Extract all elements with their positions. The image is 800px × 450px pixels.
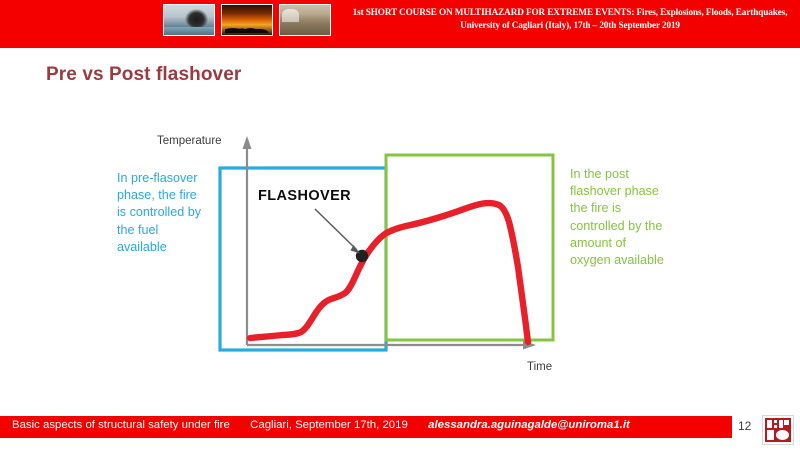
header-title: 1st SHORT COURSE ON MULTIHAZARD FOR EXTR…	[340, 6, 800, 32]
post-flashover-annotation: In the post flashover phase the fire is …	[570, 166, 666, 269]
flashover-marker-icon	[356, 250, 368, 262]
x-axis-label: Time	[527, 361, 552, 373]
y-axis-label: Temperature	[157, 135, 222, 147]
logo-mark-icon	[765, 418, 791, 442]
pre-flashover-region-box	[220, 168, 386, 350]
storm-thumbnail	[163, 4, 215, 36]
post-flashover-region-box	[386, 155, 553, 340]
header-thumbnail-strip	[163, 4, 331, 36]
pre-flashover-annotation: In pre-flasover phase, the fire is contr…	[117, 170, 203, 256]
slide-number: 12	[738, 419, 751, 433]
footer-place-date: Cagliari, September 17th, 2019	[250, 419, 408, 431]
header-title-line-1: 1st SHORT COURSE ON MULTIHAZARD FOR EXTR…	[340, 6, 800, 19]
flashover-label: FLASHOVER	[258, 188, 351, 204]
page-title: Pre vs Post flashover	[46, 64, 241, 86]
footer-subject: Basic aspects of structural safety under…	[12, 419, 230, 431]
footer-email: alessandra.aguinagalde@uniroma1.it	[428, 419, 630, 431]
header-title-line-2: University of Cagliari (Italy), 17th – 2…	[340, 19, 800, 32]
university-logo	[762, 415, 794, 445]
footer-text: Basic aspects of structural safety under…	[12, 419, 630, 431]
y-axis-arrow-icon	[243, 136, 252, 149]
fire-thumbnail	[221, 4, 273, 36]
flood-thumbnail	[279, 4, 331, 36]
x-axis-arrow-icon	[523, 341, 536, 350]
header-bar: 1st SHORT COURSE ON MULTIHAZARD FOR EXTR…	[0, 0, 800, 48]
flashover-leader-arrow-icon	[351, 245, 361, 254]
flashover-leader-line	[315, 209, 357, 250]
temperature-curve	[250, 203, 528, 342]
